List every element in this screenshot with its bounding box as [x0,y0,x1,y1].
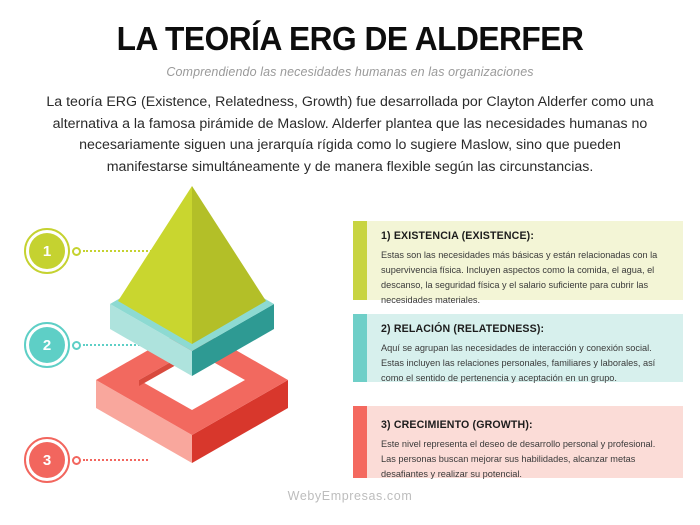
info-card-existence[interactable]: 1) EXISTENCIA (EXISTENCE): Estas son las… [353,221,683,300]
card-body-1: 1) EXISTENCIA (EXISTENCE): Estas son las… [367,221,683,300]
step-number-1: 1 [43,244,51,259]
step-marker-1[interactable]: 1 [24,228,70,274]
card-title-3: 3) CRECIMIENTO (GROWTH): [381,419,669,431]
step-marker-3[interactable]: 3 [24,437,70,483]
pyramid-illustration [96,186,358,486]
card-body-3: 3) CRECIMIENTO (GROWTH): Este nivel repr… [367,406,683,478]
step-disc-1: 1 [29,233,65,269]
infographic-page: LA TEORÍA ERG DE ALDERFER Comprendiendo … [0,0,700,525]
intro-paragraph: La teoría ERG (Existence, Relatedness, G… [40,92,660,178]
card-text-3: Este nivel representa el deseo de desarr… [381,437,669,482]
step-disc-2: 2 [29,327,65,363]
step-number-3: 3 [43,453,51,468]
header: LA TEORÍA ERG DE ALDERFER Comprendiendo … [0,22,700,79]
connector-dot-2 [72,341,81,350]
page-subtitle: Comprendiendo las necesidades humanas en… [0,65,700,79]
card-title-1: 1) EXISTENCIA (EXISTENCE): [381,230,669,242]
info-card-growth[interactable]: 3) CRECIMIENTO (GROWTH): Este nivel repr… [353,406,683,478]
connector-dot-3 [72,456,81,465]
card-accent-bar-1 [353,221,367,300]
step-number-2: 2 [43,338,51,353]
step-disc-3: 3 [29,442,65,478]
step-marker-2[interactable]: 2 [24,322,70,368]
connector-dot-1 [72,247,81,256]
card-text-1: Estas son las necesidades más básicas y … [381,248,669,308]
info-card-relatedness[interactable]: 2) RELACIÓN (RELATEDNESS): Aquí se agrup… [353,314,683,382]
footer-credit: WebyEmpresas.com [0,489,700,503]
page-title: LA TEORÍA ERG DE ALDERFER [14,22,686,57]
card-title-2: 2) RELACIÓN (RELATEDNESS): [381,323,669,335]
card-accent-bar-2 [353,314,367,382]
card-accent-bar-3 [353,406,367,478]
card-text-2: Aquí se agrupan las necesidades de inter… [381,341,669,386]
card-body-2: 2) RELACIÓN (RELATEDNESS): Aquí se agrup… [367,314,683,382]
